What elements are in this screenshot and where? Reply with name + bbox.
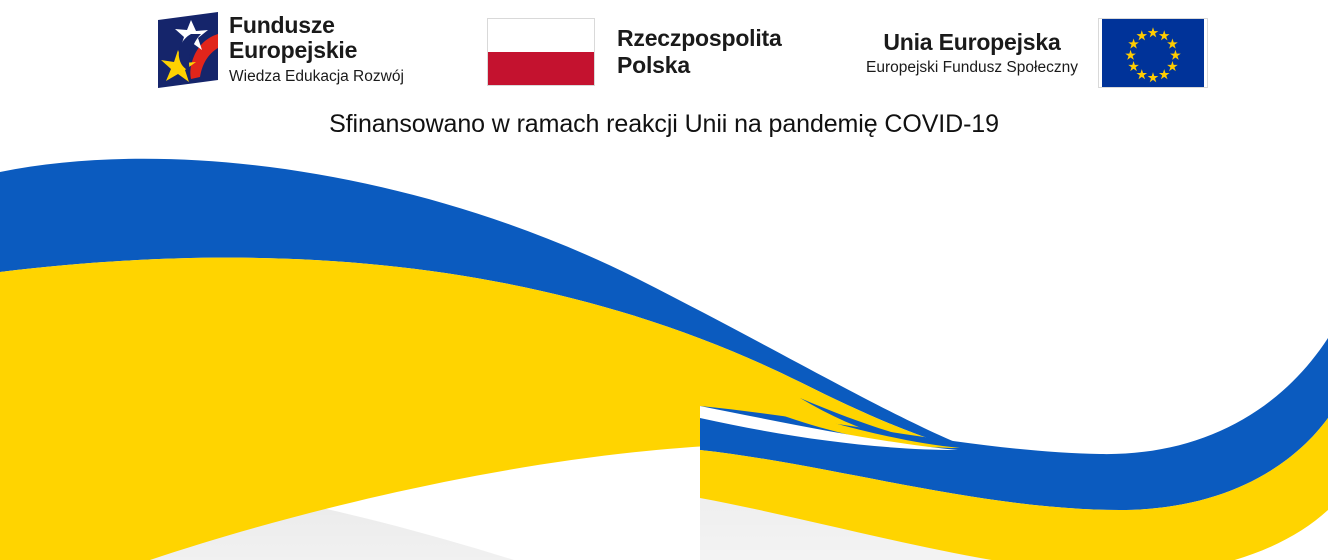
logo-fundusze-europejskie: Fundusze Europejskie Wiedza Edukacja Roz… — [158, 12, 404, 88]
ue-subtitle: Europejski Fundusz Społeczny — [866, 57, 1078, 78]
fe-line-1: Fundusze — [229, 13, 404, 38]
funding-tagline: Sfinansowano w ramach reakcji Unii na pa… — [0, 110, 1328, 139]
poland-flag-white-stripe — [488, 19, 594, 52]
fundusze-europejskie-wordmark: Fundusze Europejskie Wiedza Edukacja Roz… — [229, 13, 404, 87]
poland-flag-icon — [487, 18, 595, 86]
poland-flag-red-stripe — [488, 52, 594, 85]
eu-funding-banner: Fundusze Europejskie Wiedza Edukacja Roz… — [0, 0, 1328, 560]
fe-line-2: Europejskie — [229, 38, 404, 63]
logo-unia-europejska: Unia Europejska Europejski Fundusz Społe… — [866, 18, 1208, 88]
logo-strip: Fundusze Europejskie Wiedza Edukacja Roz… — [0, 0, 1328, 104]
unia-europejska-wordmark: Unia Europejska Europejski Fundusz Społe… — [866, 28, 1078, 78]
rzeczpospolita-polska-wordmark: Rzeczpospolita Polska — [617, 25, 782, 79]
fundusze-europejskie-logo-mark-icon — [158, 12, 218, 88]
european-union-flag-icon — [1098, 18, 1208, 88]
ue-line-1: Unia Europejska — [866, 28, 1078, 56]
rp-line-2: Polska — [617, 52, 782, 79]
fe-subtitle: Wiedza Edukacja Rozwój — [229, 66, 404, 87]
rp-line-1: Rzeczpospolita — [617, 25, 782, 52]
logo-rzeczpospolita-polska: Rzeczpospolita Polska — [487, 18, 782, 86]
decorative-wave-graphic — [0, 150, 1328, 560]
